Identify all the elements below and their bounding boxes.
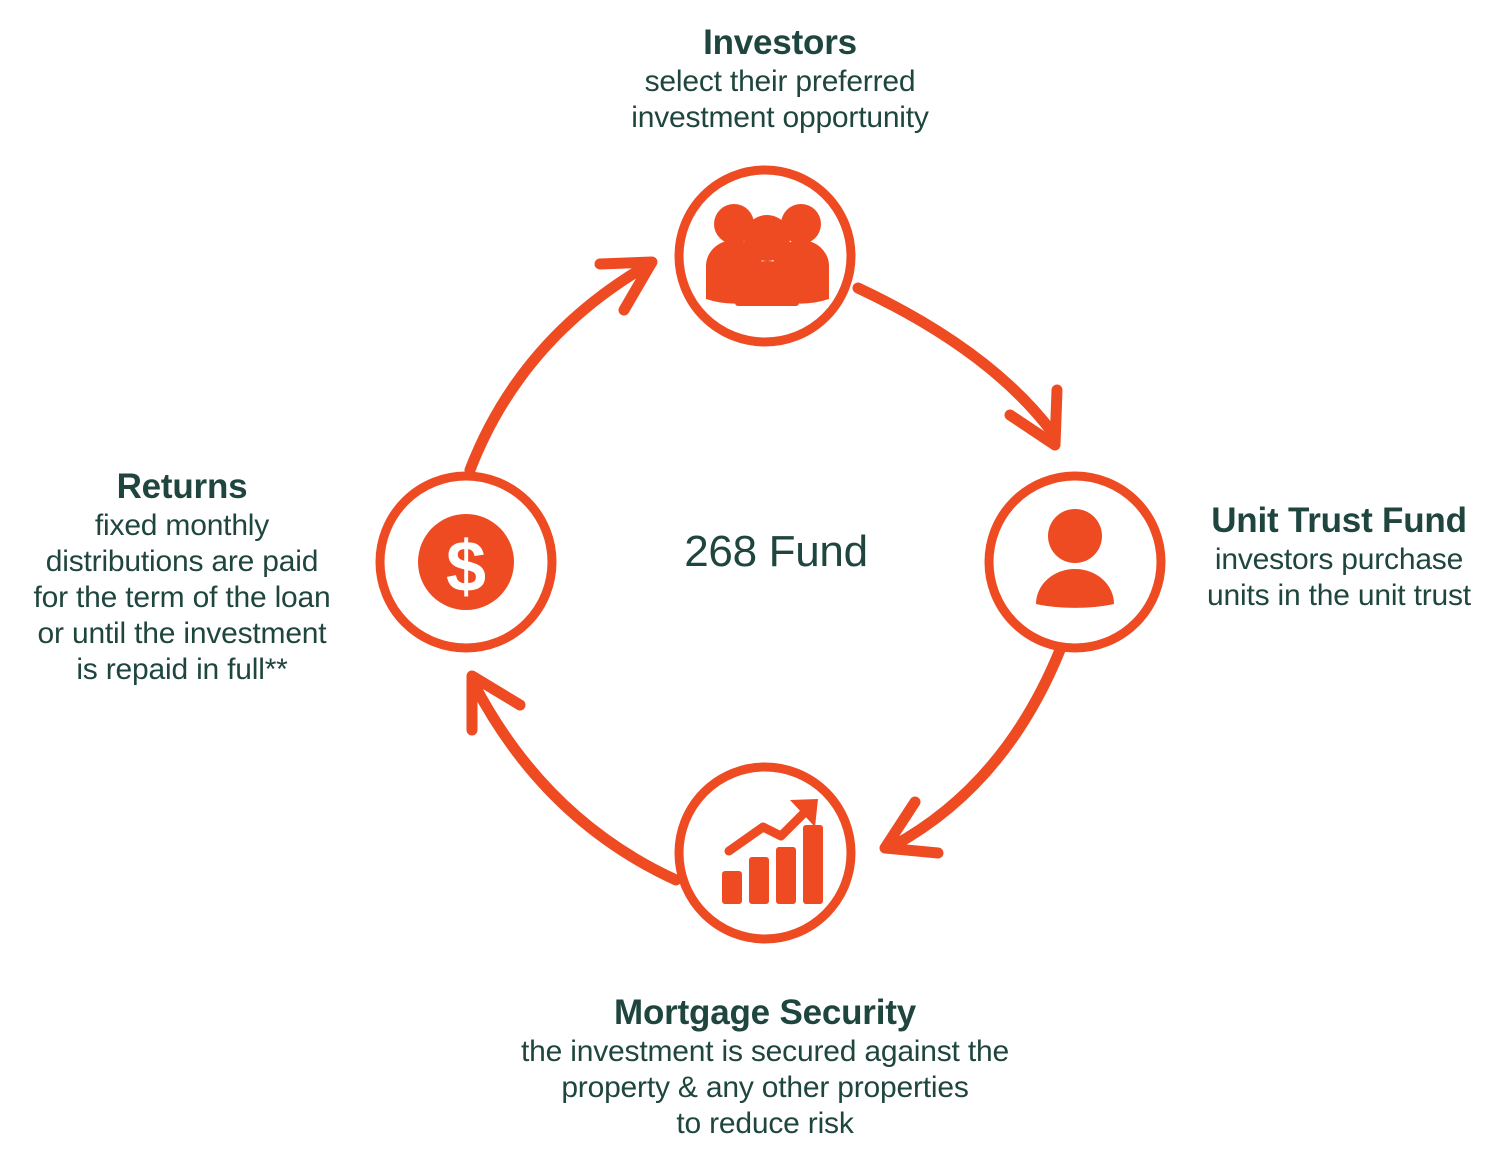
label-investors: Investors select their preferred investm…	[500, 22, 1060, 136]
label-returns-desc: fixed monthly distributions are paid for…	[8, 508, 356, 688]
label-mortgage-security: Mortgage Security the investment is secu…	[460, 992, 1070, 1142]
label-mortgage-desc: the investment is secured against the pr…	[460, 1034, 1070, 1142]
label-mortgage-title: Mortgage Security	[460, 992, 1070, 1034]
arrow-investors-to-unit-trust	[858, 288, 1057, 445]
cycle-diagram: $ Investors select their preferred inves…	[0, 0, 1500, 1173]
node-unit-trust-fund[interactable]	[989, 476, 1161, 648]
people-group-icon	[706, 204, 829, 306]
node-mortgage-security[interactable]	[679, 767, 851, 939]
label-unit-trust-fund: Unit Trust Fund investors purchase units…	[1178, 500, 1500, 614]
node-returns[interactable]: $	[380, 476, 552, 648]
arrow-unit-trust-to-mortgage	[885, 650, 1060, 853]
label-returns-title: Returns	[8, 466, 356, 508]
label-investors-title: Investors	[500, 22, 1060, 64]
label-unit-trust-title: Unit Trust Fund	[1178, 500, 1500, 542]
dollar-coin-icon: $	[418, 514, 514, 610]
label-returns: Returns fixed monthly distributions are …	[8, 466, 356, 688]
mortgage-circle	[679, 767, 851, 939]
label-unit-trust-desc: investors purchase units in the unit tru…	[1178, 542, 1500, 614]
label-investors-desc: select their preferred investment opport…	[500, 64, 1060, 136]
center-title: 268 Fund	[566, 527, 986, 577]
svg-text:$: $	[446, 527, 486, 607]
arrow-returns-to-investors	[470, 262, 652, 470]
node-investors[interactable]	[679, 170, 851, 342]
arrow-mortgage-to-returns	[472, 676, 676, 880]
